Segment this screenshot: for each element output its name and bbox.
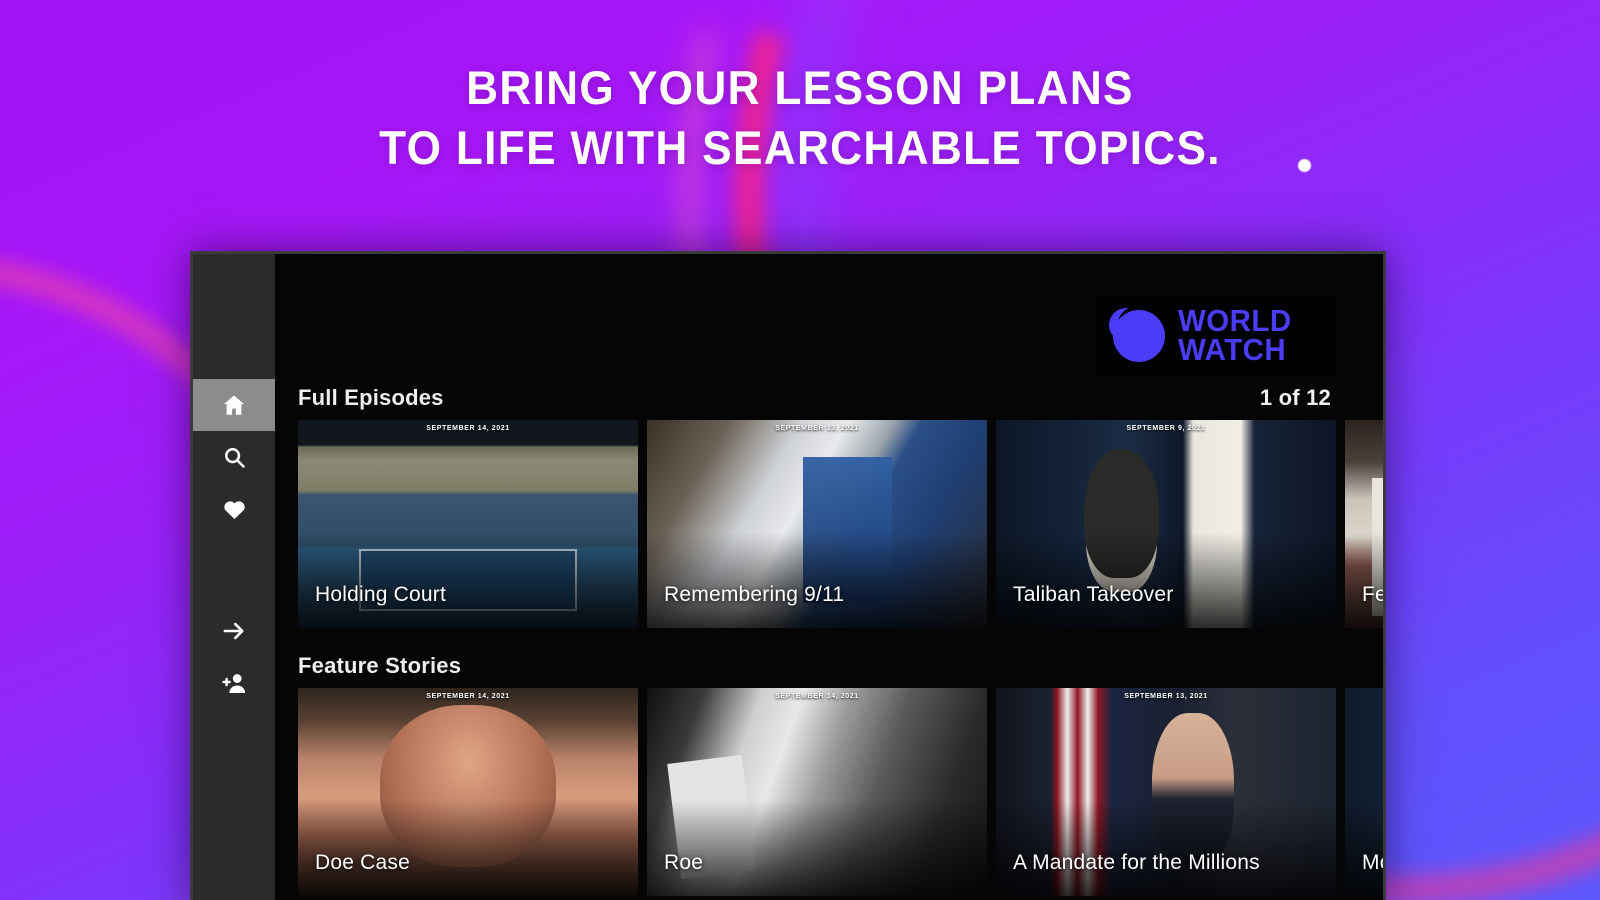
media-card[interactable]: SEPTEMBER 13, 2021 Remembering 9/11 bbox=[647, 420, 987, 628]
card-title: Doe Case bbox=[315, 830, 410, 896]
media-card[interactable]: SEPTEMBER 14, 2021 Holding Court bbox=[298, 420, 638, 628]
brand-logo-text: WORLD WATCH bbox=[1178, 307, 1292, 364]
rail-feature-stories[interactable]: SEPTEMBER 14, 2021 Doe Case SEPTEMBER 14… bbox=[275, 688, 1383, 896]
app-device-frame: WORLD WATCH Full Episodes 1 of 12 SEPTEM… bbox=[190, 251, 1386, 900]
card-title: Mobi bbox=[1362, 830, 1383, 896]
card-date: SEPTEMBER 14, 2021 bbox=[426, 425, 510, 432]
section-header-full-episodes: Full Episodes 1 of 12 bbox=[275, 385, 1383, 411]
rail-full-episodes[interactable]: SEPTEMBER 14, 2021 Holding Court SEPTEMB… bbox=[275, 420, 1383, 628]
card-title: Roe bbox=[664, 830, 703, 896]
media-card[interactable]: SEPTEMBER 13, 2021 Mobi bbox=[1345, 688, 1383, 896]
media-card[interactable]: SEPTEMBER 9, 2021 Taliban Takeover bbox=[996, 420, 1336, 628]
card-title: Fede bbox=[1362, 562, 1383, 628]
sidebar-item-favorites[interactable] bbox=[193, 483, 275, 535]
person-add-icon bbox=[221, 670, 248, 697]
card-title: A Mandate for the Millions bbox=[1013, 830, 1260, 896]
media-card[interactable]: SEPTEMBER 13, 2021 A Mandate for the Mil… bbox=[996, 688, 1336, 896]
sidebar-item-search[interactable] bbox=[193, 431, 275, 483]
heart-icon bbox=[221, 496, 248, 523]
card-date: SEPTEMBER 14, 2021 bbox=[426, 693, 510, 700]
card-title: Taliban Takeover bbox=[1013, 562, 1173, 628]
media-card[interactable]: SEPTEMBER 14, 2021 Roe bbox=[647, 688, 987, 896]
sidebar-item-sign-in[interactable] bbox=[193, 605, 275, 657]
promo-headline-line-2: TO LIFE WITH SEARCHABLE TOPICS. bbox=[48, 118, 1552, 178]
search-icon bbox=[222, 445, 247, 470]
section-pager-count: 1 of 12 bbox=[1260, 385, 1331, 411]
promo-headline-line-1: BRING YOUR LESSON PLANS bbox=[48, 58, 1552, 118]
card-date: SEPTEMBER 13, 2021 bbox=[1124, 693, 1208, 700]
card-title: Holding Court bbox=[315, 562, 446, 628]
media-card[interactable]: SEPTEMBER 8, 2021 Fede bbox=[1345, 420, 1383, 628]
card-date: SEPTEMBER 9, 2021 bbox=[1126, 425, 1205, 432]
sidebar-item-home[interactable] bbox=[193, 379, 275, 431]
app-sidebar bbox=[193, 254, 275, 900]
brand-logo-line-2: WATCH bbox=[1178, 336, 1292, 365]
promo-headline: BRING YOUR LESSON PLANS TO LIFE WITH SEA… bbox=[48, 58, 1552, 177]
home-icon bbox=[221, 392, 247, 418]
sidebar-item-add-user[interactable] bbox=[193, 657, 275, 709]
section-title: Full Episodes bbox=[298, 385, 444, 411]
media-card[interactable]: SEPTEMBER 14, 2021 Doe Case bbox=[298, 688, 638, 896]
card-title: Remembering 9/11 bbox=[664, 562, 844, 628]
card-date: SEPTEMBER 13, 2021 bbox=[775, 425, 859, 432]
app-screen: WORLD WATCH Full Episodes 1 of 12 SEPTEM… bbox=[275, 254, 1383, 900]
section-header-feature-stories: Feature Stories bbox=[275, 653, 1383, 679]
sidebar-spacer bbox=[193, 535, 275, 605]
brand-logo: WORLD WATCH bbox=[1095, 295, 1337, 377]
arrow-right-icon bbox=[221, 618, 247, 644]
crescent-circle-icon bbox=[1109, 308, 1165, 364]
card-date: SEPTEMBER 14, 2021 bbox=[775, 693, 859, 700]
section-title: Feature Stories bbox=[298, 653, 461, 679]
